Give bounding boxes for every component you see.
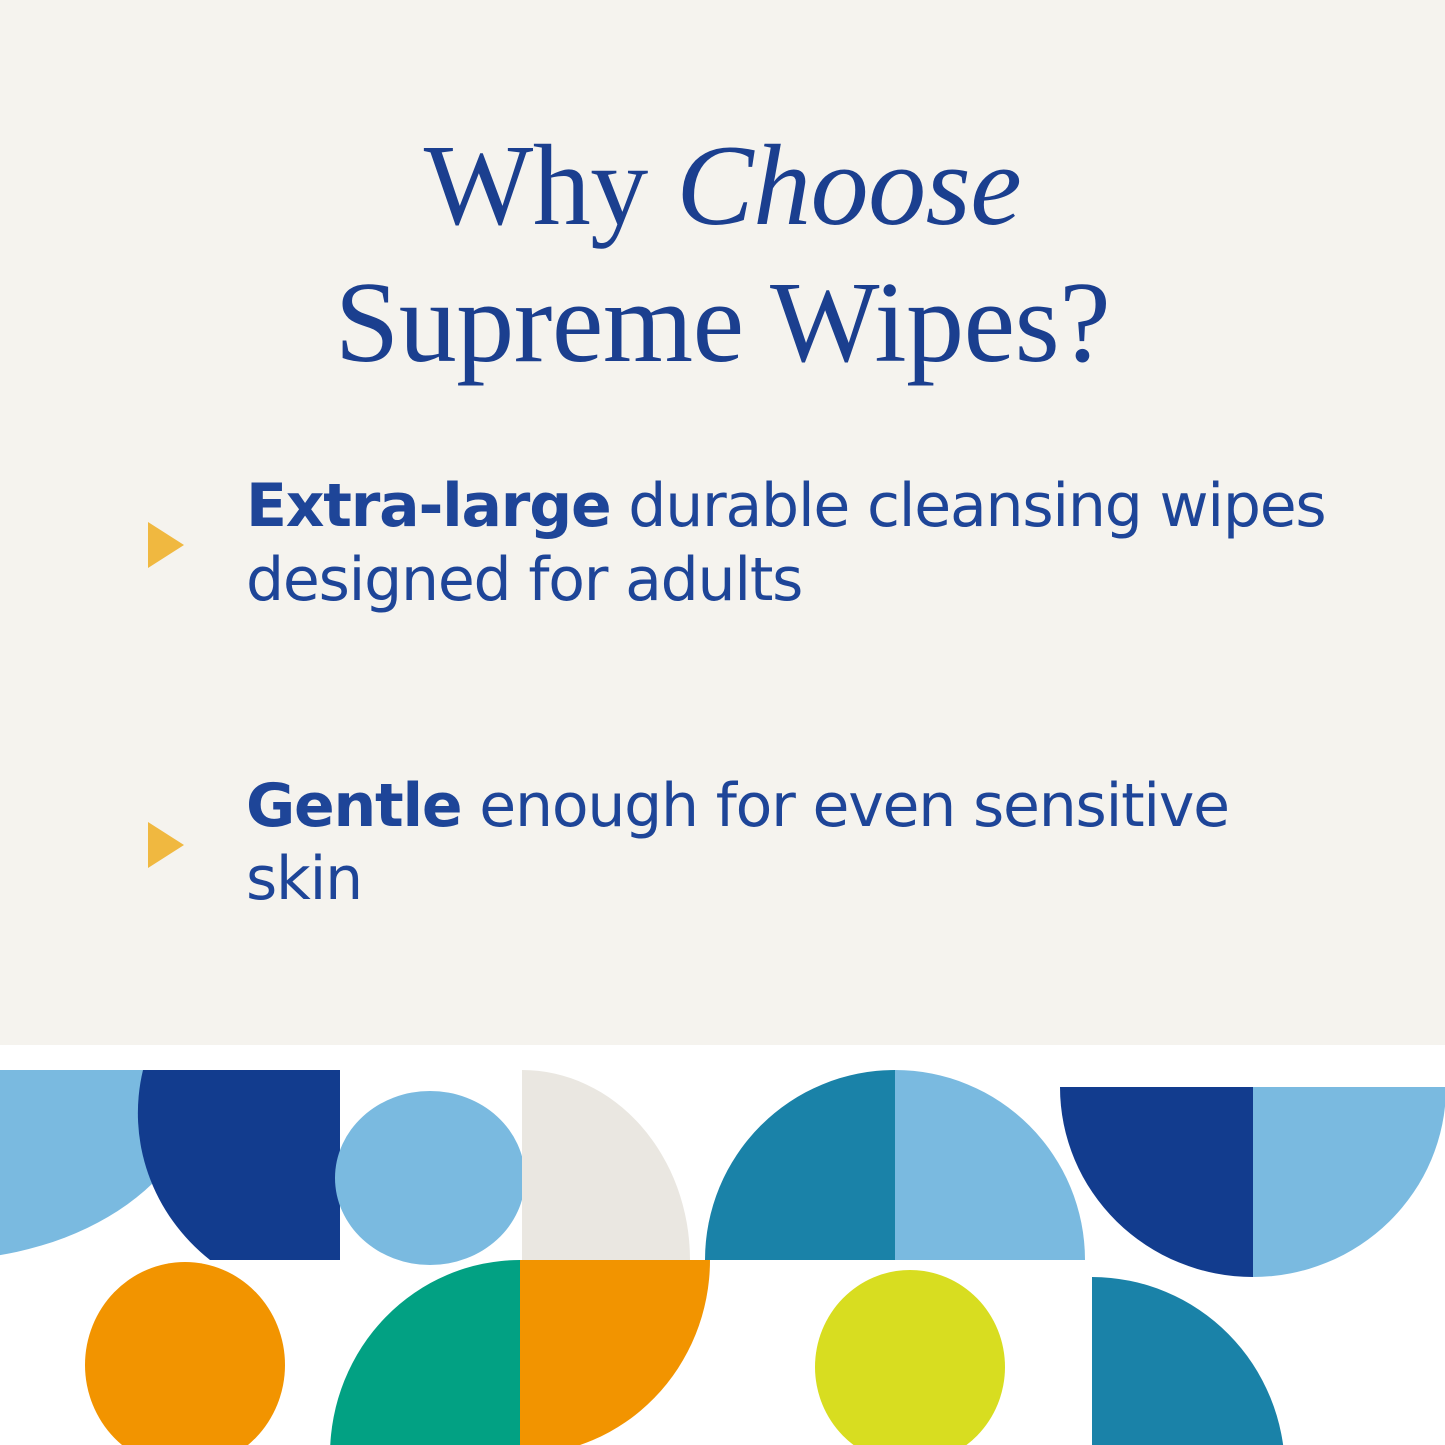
triangle-right-icon xyxy=(148,522,184,568)
promo-page: Why ChooseSupreme Wipes? Extra-large dur… xyxy=(0,0,1445,1445)
list-item-text: Gentle enough for even sensitive skin xyxy=(246,770,1345,918)
headline-word-why: Why xyxy=(424,122,677,250)
list-item-emphasis: Extra-large xyxy=(246,471,610,541)
list-item-emphasis: Gentle xyxy=(246,771,461,841)
triangle-right-icon xyxy=(148,822,184,868)
page-title: Why ChooseSupreme Wipes? xyxy=(90,118,1355,392)
headline-line-2: Supreme Wipes? xyxy=(90,255,1355,392)
list-item: Gentle enough for even sensitive skin xyxy=(148,770,1345,918)
benefits-list: Extra-large durable cleansing wipes desi… xyxy=(0,470,1445,1069)
list-item: Extra-large durable cleansing wipes desi… xyxy=(148,470,1345,618)
light-blue-circle xyxy=(335,1091,525,1265)
list-item-text: Extra-large durable cleansing wipes desi… xyxy=(246,470,1345,618)
headline-word-choose: Choose xyxy=(676,122,1021,250)
decorative-geometric-pattern xyxy=(0,1045,1445,1445)
headline-block: Why ChooseSupreme Wipes? xyxy=(0,118,1445,392)
